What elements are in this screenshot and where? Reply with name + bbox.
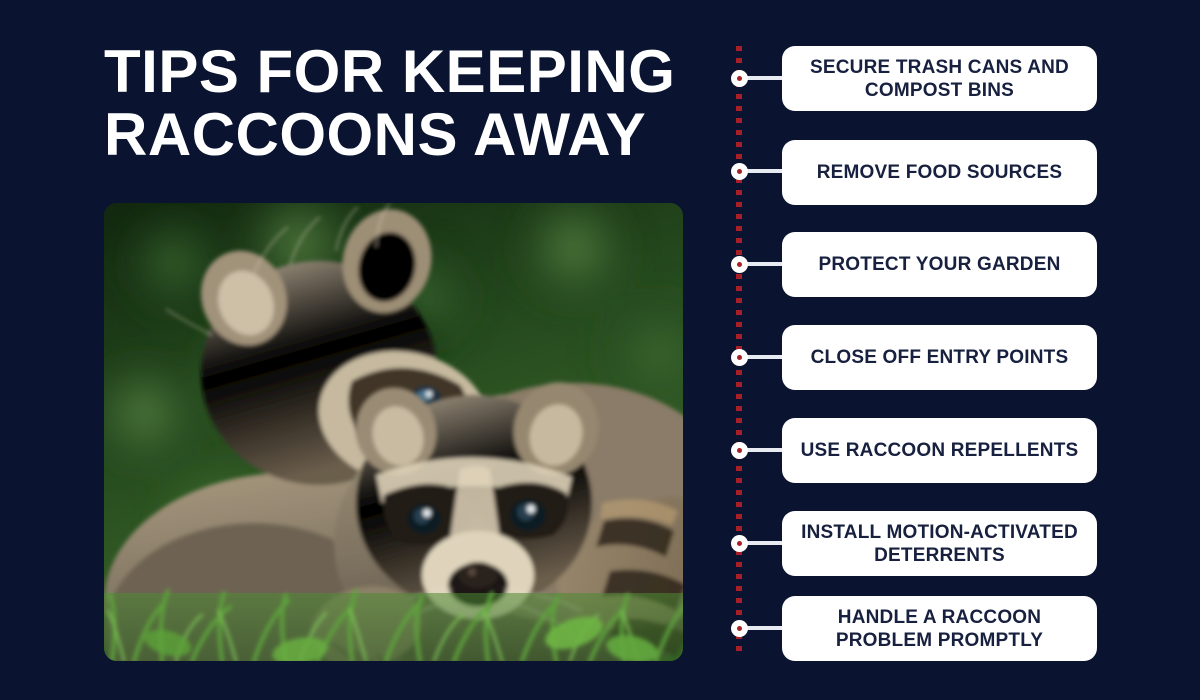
tip-card-label-4: CLOSE OFF ENTRY POINTS (811, 346, 1069, 369)
tip-card-label-7: HANDLE A RACCOON PROBLEM PROMPTLY (794, 606, 1085, 652)
timeline-connector-4 (746, 355, 786, 359)
page-title-line-1: TIPS FOR KEEPING (104, 40, 704, 103)
tip-card-6[interactable]: INSTALL MOTION-ACTIVATED DETERRENTS (782, 511, 1097, 576)
tip-card-label-6: INSTALL MOTION-ACTIVATED DETERRENTS (794, 521, 1085, 567)
tip-card-1[interactable]: SECURE TRASH CANS AND COMPOST BINS (782, 46, 1097, 111)
tip-card-2[interactable]: REMOVE FOOD SOURCES (782, 140, 1097, 205)
timeline-connector-6 (746, 541, 786, 545)
raccoon-photo (104, 203, 683, 661)
tip-card-7[interactable]: HANDLE A RACCOON PROBLEM PROMPTLY (782, 596, 1097, 661)
timeline-connector-3 (746, 262, 786, 266)
tip-card-label-2: REMOVE FOOD SOURCES (817, 161, 1063, 184)
tip-card-label-5: USE RACCOON REPELLENTS (801, 439, 1079, 462)
timeline-connector-5 (746, 448, 786, 452)
timeline-node-2 (731, 163, 748, 180)
tip-card-label-3: PROTECT YOUR GARDEN (818, 253, 1060, 276)
timeline-node-3 (731, 256, 748, 273)
infographic-root: TIPS FOR KEEPING RACCOONS AWAY (0, 0, 1200, 700)
timeline-node-7 (731, 620, 748, 637)
timeline-connector-7 (746, 626, 786, 630)
timeline-connector-2 (746, 169, 786, 173)
tip-card-5[interactable]: USE RACCOON REPELLENTS (782, 418, 1097, 483)
timeline-node-5 (731, 442, 748, 459)
timeline-node-1 (731, 70, 748, 87)
tip-card-4[interactable]: CLOSE OFF ENTRY POINTS (782, 325, 1097, 390)
timeline-node-6 (731, 535, 748, 552)
page-title: TIPS FOR KEEPING RACCOONS AWAY (104, 40, 704, 166)
raccoon-photo-illustration (104, 203, 683, 661)
tip-card-3[interactable]: PROTECT YOUR GARDEN (782, 232, 1097, 297)
timeline-node-4 (731, 349, 748, 366)
timeline-connector-1 (746, 76, 786, 80)
page-title-line-2: RACCOONS AWAY (104, 103, 704, 166)
tip-card-label-1: SECURE TRASH CANS AND COMPOST BINS (794, 56, 1085, 102)
